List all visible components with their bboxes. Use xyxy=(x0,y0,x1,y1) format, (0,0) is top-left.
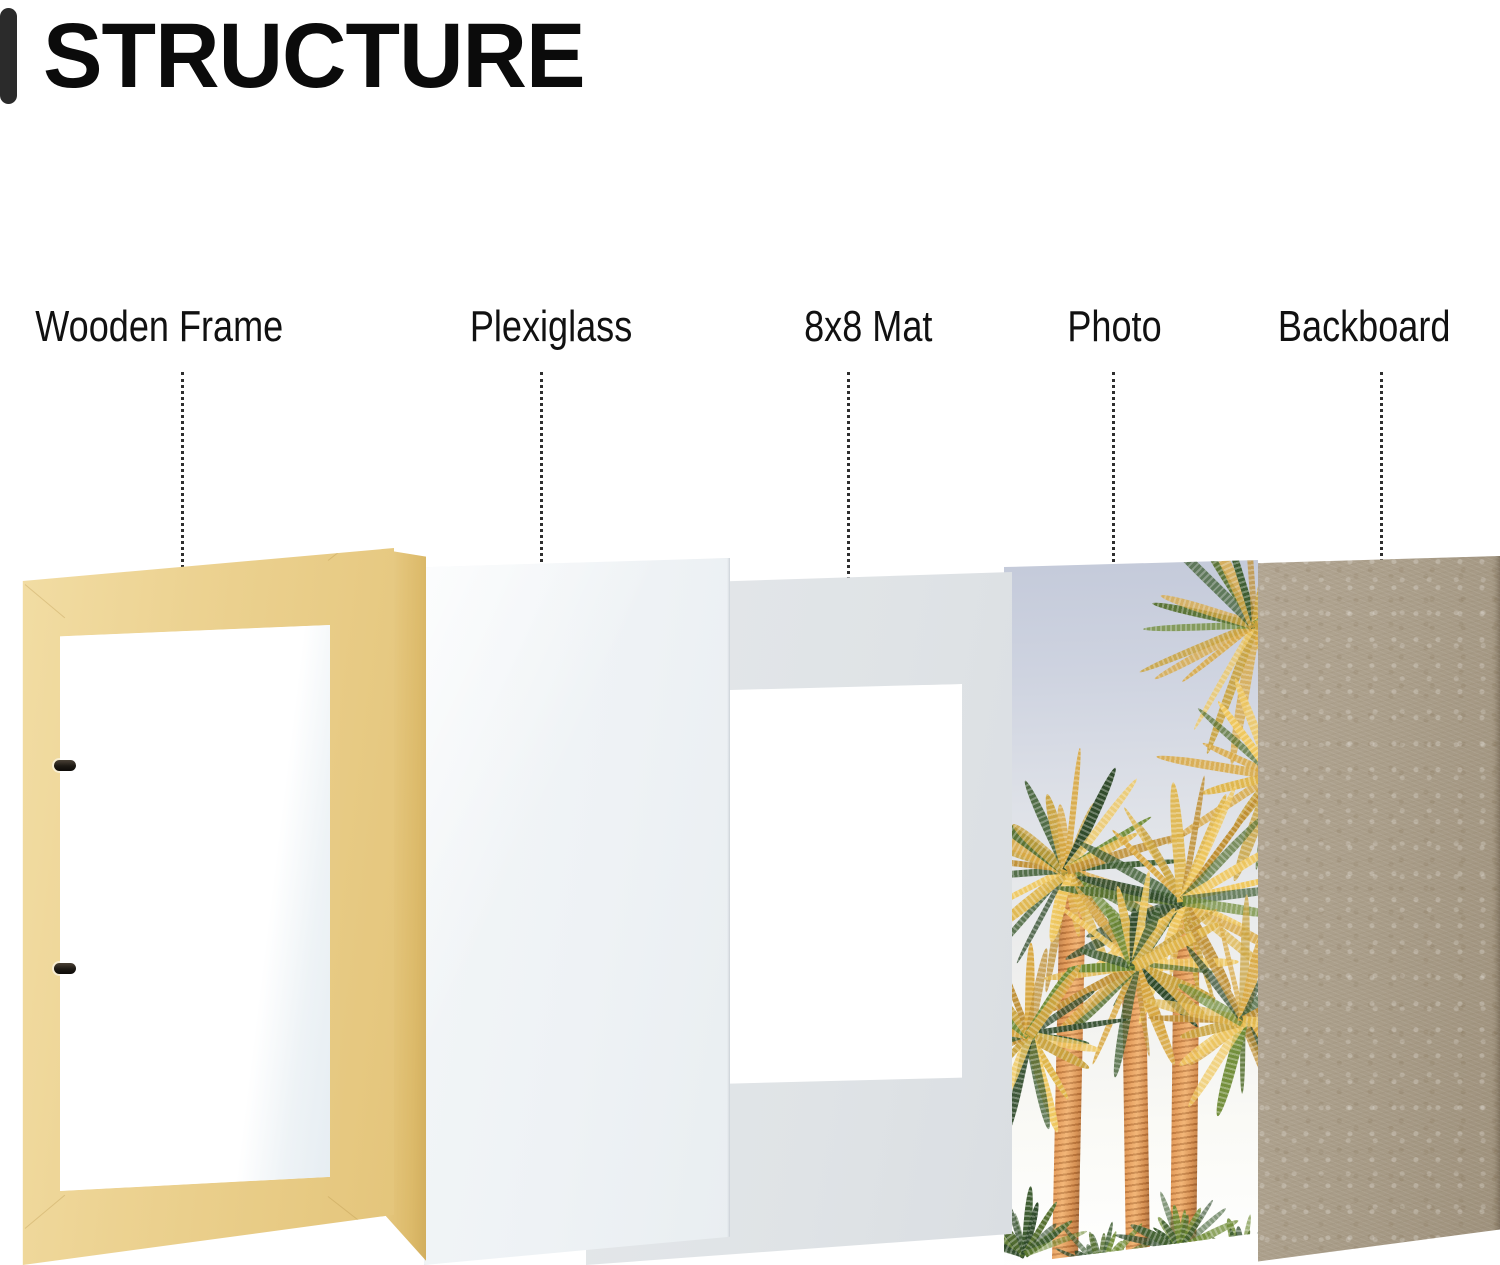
mat-window-opening xyxy=(716,684,962,1084)
frame-opening xyxy=(60,625,330,1191)
frame-clip-tab xyxy=(54,963,76,974)
palm-crown xyxy=(1028,1030,1029,1031)
shrub-frond xyxy=(1209,1234,1242,1264)
shrub-frond xyxy=(1219,1240,1243,1265)
palm-crown xyxy=(1134,960,1135,961)
shrub-frond xyxy=(1239,1249,1258,1265)
layer-wooden-frame xyxy=(16,548,434,1265)
frame-miter-bottom-right xyxy=(328,1196,377,1235)
shrub-frond xyxy=(1222,1238,1245,1265)
foreground-shrub xyxy=(1180,1244,1181,1245)
plexiglass-sheen xyxy=(424,558,730,1265)
photo-palm-trees xyxy=(1004,560,1258,1265)
layer-photo xyxy=(1004,560,1258,1265)
palm-frond xyxy=(1155,752,1258,780)
frame-face xyxy=(16,548,394,1265)
shrub-frond xyxy=(1239,1236,1258,1265)
shrub-frond xyxy=(1210,1252,1242,1265)
exploded-assembly-diagram xyxy=(0,0,1500,1265)
layer-backboard xyxy=(1258,556,1500,1265)
shrub-frond xyxy=(1071,1260,1101,1265)
frame-clip-tab xyxy=(54,760,76,771)
palm-crown xyxy=(1066,865,1067,866)
backboard-texture xyxy=(1258,556,1500,1265)
shrub-frond xyxy=(1234,1225,1245,1265)
frame-miter-bottom-left xyxy=(25,1195,65,1229)
foreground-shrub xyxy=(1024,1250,1025,1251)
frame-opening-inner xyxy=(60,625,330,1191)
frame-miter-top-left xyxy=(25,584,65,618)
palm-crown xyxy=(1182,895,1183,896)
layer-plexiglass xyxy=(424,558,730,1265)
shrub-frond xyxy=(1238,1213,1253,1263)
shrub-frond xyxy=(1069,1257,1101,1265)
foreground-shrub xyxy=(1240,1260,1241,1261)
palm-crown xyxy=(1242,1015,1243,1016)
shrub-frond xyxy=(1207,1240,1242,1265)
palm-crown xyxy=(1254,620,1255,621)
shrub-frond xyxy=(1210,1252,1241,1265)
frame-miter-top-right xyxy=(328,522,377,561)
shrub-frond xyxy=(1239,1232,1258,1265)
